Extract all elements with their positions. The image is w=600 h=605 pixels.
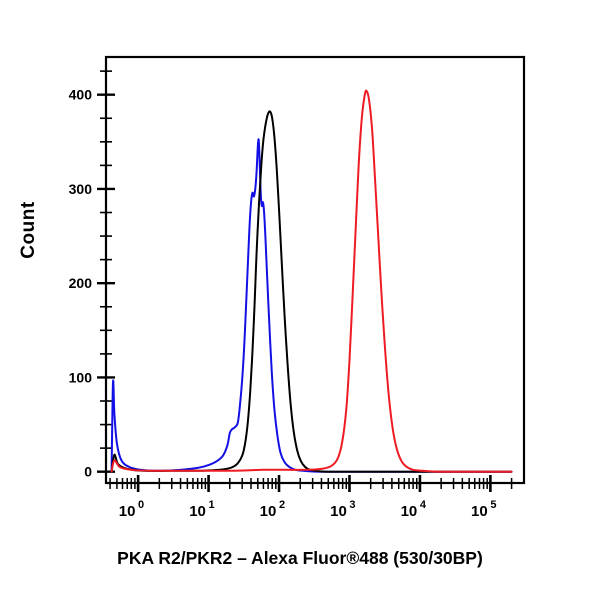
svg-text:2: 2 [279, 499, 285, 511]
x-tick-label: 102 [260, 499, 285, 520]
svg-text:1: 1 [209, 499, 215, 511]
svg-text:10: 10 [401, 503, 418, 520]
x-axis-title: PKA R2/PKR2 – Alexa Fluor®488 (530/30BP) [0, 548, 600, 569]
y-tick-label: 300 [69, 181, 93, 197]
svg-text:10: 10 [260, 503, 277, 520]
x-tick-label: 104 [401, 499, 427, 520]
svg-text:4: 4 [420, 499, 427, 511]
y-tick-label: 100 [69, 369, 93, 385]
flow-cytometry-histogram: 0100200300400100101102103104105 Count PK… [0, 0, 600, 600]
x-tick-label: 101 [189, 499, 214, 520]
y-tick-label: 0 [84, 464, 92, 480]
svg-text:10: 10 [119, 503, 136, 520]
y-tick-label: 200 [69, 275, 93, 291]
svg-text:0: 0 [138, 499, 144, 511]
histogram-svg: 0100200300400100101102103104105 [0, 0, 600, 600]
svg-text:10: 10 [330, 503, 347, 520]
svg-text:10: 10 [471, 503, 488, 520]
svg-text:3: 3 [349, 499, 355, 511]
svg-text:10: 10 [189, 503, 206, 520]
y-axis-title: Count [18, 170, 40, 290]
x-tick-label: 105 [471, 499, 496, 520]
x-tick-label: 103 [330, 499, 355, 520]
y-tick-label: 400 [69, 87, 93, 103]
x-tick-label: 100 [119, 499, 144, 520]
plot-frame [106, 57, 524, 483]
svg-text:5: 5 [490, 499, 496, 511]
